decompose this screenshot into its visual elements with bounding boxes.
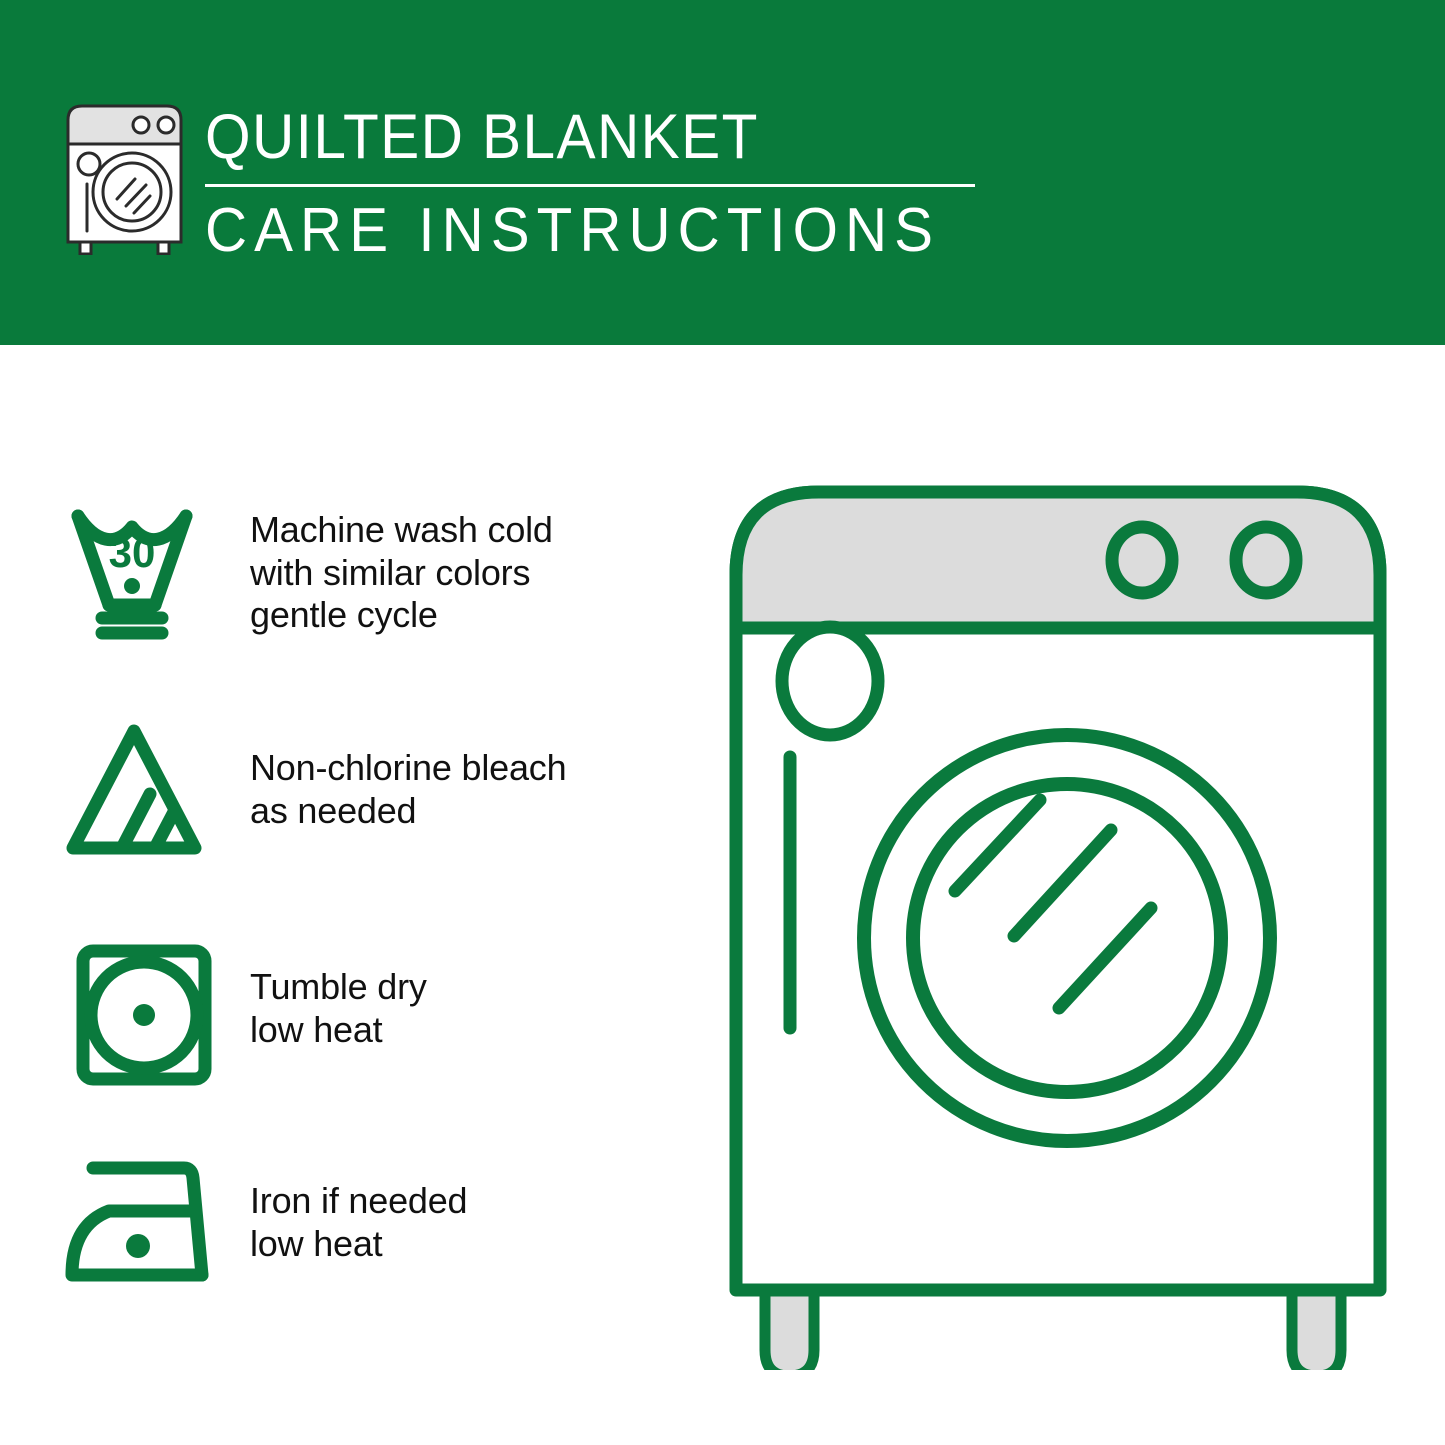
care-row-iron: Iron if needed low heat (62, 1150, 682, 1300)
care-text-line: gentle cycle (250, 594, 682, 637)
care-text-line: with similar colors (250, 552, 682, 595)
care-text-line: Tumble dry (250, 966, 682, 1009)
front-load-washing-machine-illustration (718, 470, 1398, 1370)
care-row-tumble-dry: Tumble dry low heat (62, 940, 682, 1090)
wash-temp-value: 30 (109, 529, 156, 576)
care-text-line: as needed (250, 790, 682, 833)
care-text-tumble-dry: Tumble dry low heat (232, 940, 682, 1051)
care-text-line: low heat (250, 1009, 682, 1052)
care-row-wash: 30 Machine wash cold with similar colors… (62, 495, 682, 645)
wash-tub-30-icon: 30 (62, 495, 232, 645)
non-chlorine-bleach-triangle-icon (62, 717, 232, 867)
care-text-line: Non-chlorine bleach (250, 747, 682, 790)
care-text-bleach: Non-chlorine bleach as needed (232, 717, 682, 832)
header-text-block: QUILTED BLANKET CARE INSTRUCTIONS (205, 103, 985, 264)
page-title: QUILTED BLANKET (205, 103, 930, 171)
care-text-line: Iron if needed (250, 1180, 682, 1223)
header-band: QUILTED BLANKET CARE INSTRUCTIONS (0, 0, 1445, 345)
iron-low-heat-icon (62, 1150, 232, 1300)
care-text-iron: Iron if needed low heat (232, 1150, 682, 1265)
leg-right (1292, 1286, 1341, 1370)
washing-machine-icon (62, 100, 187, 255)
leg-left (765, 1286, 814, 1370)
tumble-dry-low-icon (62, 940, 232, 1090)
care-text-line: Machine wash cold (250, 509, 682, 552)
title-divider (205, 184, 975, 187)
page-subtitle: CARE INSTRUCTIONS (205, 198, 938, 264)
care-row-bleach: Non-chlorine bleach as needed (62, 717, 682, 867)
care-text-line: low heat (250, 1223, 682, 1266)
care-instructions-infographic: QUILTED BLANKET CARE INSTRUCTIONS 30 (0, 0, 1445, 1445)
care-text-wash: Machine wash cold with similar colors ge… (232, 495, 682, 637)
